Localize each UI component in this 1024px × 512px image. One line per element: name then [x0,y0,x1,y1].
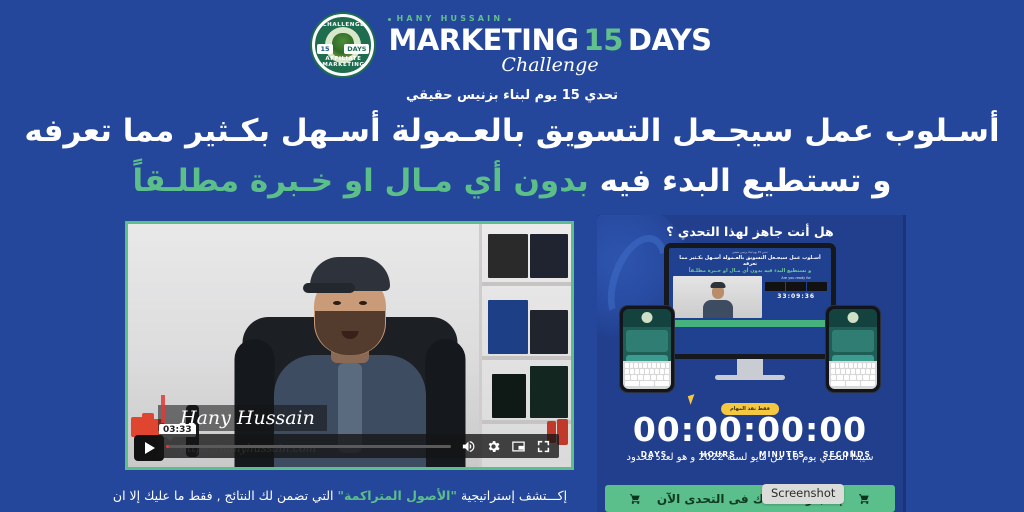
volume-icon[interactable] [461,439,476,454]
bullet-dot-icon [508,18,511,21]
video-progress-fill [166,445,169,448]
desktop-monitor-mock: تحدي 15 يوم لبناء بزنيس حقيقي أسـلوب عمل… [664,243,836,359]
brand-eyebrow: HANY HUSSAIN [388,15,711,23]
bottom-tagline: إكـــتشف إستراتيجية "الأصول المتراكمة" ا… [100,488,580,503]
person-eye-right [359,301,367,305]
badge-chip-right: DAYS [344,44,369,54]
mock-screen-sub: تحدي 15 يوم لبناء بزنيس حقيقي [669,251,831,254]
badge-bottom-text: AFFILIATE MARKETING [315,56,371,68]
mock-ready-text: Are you ready for [765,276,827,280]
cart-icon [628,492,643,505]
bullet-dot-icon [388,18,391,21]
monitor-screen: تحدي 15 يوم لبناء بزنيس حقيقي أسـلوب عمل… [669,248,831,354]
person-eye-left [333,301,341,305]
brand-word-days: DAYS [628,26,712,55]
headline-line-1: أسـلوب عمل سيجـعل التسويق بالعـمولة أسـه… [0,113,1024,151]
mock-cta-button [673,320,827,327]
brand-word-marketing: MARKETING [388,26,578,55]
headline-line-2: و تستطيع البدء فيه بدون أي مـال او خـبرة… [0,163,1024,201]
avatar [848,312,859,323]
panel-heading: هل أنت جاهز لهذا التحدي ؟ [597,215,903,239]
reserve-seat-button[interactable]: إحـجـز مـقـعدك فى التحدى الآن [605,485,895,512]
brand-eyebrow-text: HANY HUSSAIN [396,15,503,23]
mock-screen-body: Are you ready for 33:09:36 [669,274,831,318]
monitor-base [715,375,785,380]
countdown-value: 00:00:00:00 [597,413,903,446]
challenge-logo-badge: CHALLENGE 15 DAYS AFFILIATE MARKETING [312,14,374,76]
miniplayer-icon[interactable] [511,439,526,454]
progress-marker [161,395,165,423]
phone-screen-left [623,309,671,389]
brand-word-15: 15 [584,26,623,55]
play-icon [145,442,155,454]
brand-header: CHALLENGE 15 DAYS AFFILIATE MARKETING HA… [0,14,1024,76]
video-player[interactable]: Hany Hussain 03:33 https://hanyhussain.c… [125,221,574,470]
phone-screen-right [829,309,877,389]
phone-mock-left [619,305,675,393]
phone-header-right [829,309,877,327]
mock-thumbnails [765,282,827,291]
brand-script-word: Challenge [388,56,711,75]
sub-headline: تحدي 15 يوم لبناء بزنيس حقيقي [0,88,1024,103]
badge-chip-left: 15 [317,44,332,54]
mock-screen-subheadline: و تستطيع البدء فيه بدون أي مـال او خـبرة… [669,268,831,274]
settings-gear-icon[interactable] [486,439,501,454]
mock-screen-headline: أسـلوب عمل سيجـعل التسويق بالعـمولة أسـه… [669,255,831,268]
phone-mock-right [825,305,881,393]
headline-line-2-green: بدون أي مـال او خـبرة مطلـقاً [132,163,588,199]
mock-side-column: Are you ready for 33:09:36 [765,276,827,318]
avatar [642,312,653,323]
phone-keyboard-right [829,361,877,389]
phone-keyboard-left [623,361,671,389]
brand-wordmark: HANY HUSSAIN MARKETING 15 DAYS Challenge [388,15,711,75]
cart-icon [857,492,872,505]
panel-edge-divider [903,215,906,512]
bottom-tagline-prefix: إكـــتشف إستراتيجية [461,488,567,503]
video-controls-bar[interactable] [158,434,559,458]
mock-counter: 33:09:36 [765,293,827,300]
mock-video-thumb [673,276,762,318]
screenshot-tooltip: Screenshot [762,484,844,504]
video-progress-bar[interactable] [166,445,451,448]
bottom-tagline-suffix: التي تضمن لك النتائج , فقط ما عليك إلا ا… [113,488,334,503]
person-cap [310,257,390,291]
fullscreen-icon[interactable] [536,439,551,454]
phone-header-left [623,309,671,327]
device-mockup: تحدي 15 يوم لبناء بزنيس حقيقي أسـلوب عمل… [597,243,903,393]
bottom-tagline-highlight: "الأصول المتراكمة" [338,488,457,503]
cursor-icon [688,394,697,405]
brand-title: MARKETING 15 DAYS [388,26,711,55]
chat-bubble [626,330,668,352]
start-date-note: سيبدأ التحدي يوم 10 من مايو لسنة 2022 و … [597,452,903,463]
chat-bubble [832,330,874,352]
headline-line-2-prefix: و تستطيع البدء فيه [600,163,892,199]
offer-panel: هل أنت جاهز لهذا التحدي ؟ تحدي 15 يوم لب… [597,215,903,512]
